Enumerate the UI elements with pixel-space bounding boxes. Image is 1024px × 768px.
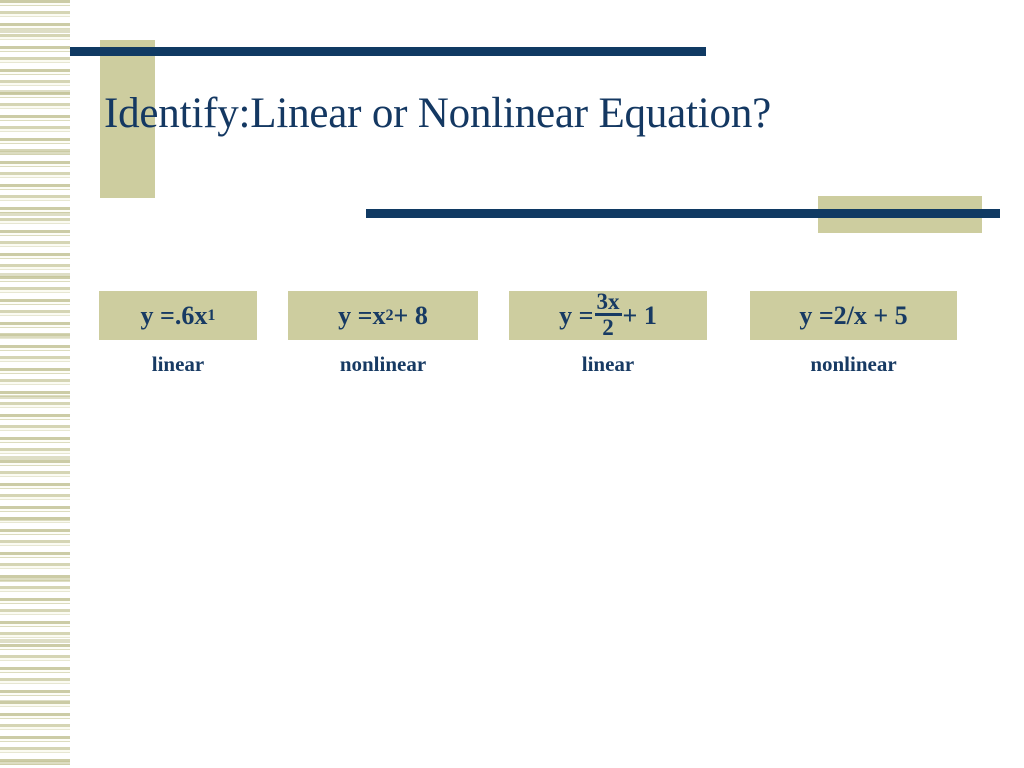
page-title: Identify:Linear or Nonlinear Equation? — [104, 92, 1020, 135]
equation-2-tail: + 8 — [394, 303, 428, 329]
equation-box-2[interactable]: y = x2 + 8 — [288, 291, 478, 340]
equation-3-lhs: y = — [559, 303, 593, 329]
navy-rule-bottom — [366, 209, 1000, 218]
equation-4-lhs: y = — [799, 303, 833, 329]
fraction-numerator: 3x — [595, 291, 622, 312]
equation-answer-3: linear — [509, 352, 707, 377]
equation-box-1[interactable]: y = .6x1 — [99, 291, 257, 340]
equation-answer-1: linear — [99, 352, 257, 377]
equation-answer-2: nonlinear — [288, 352, 478, 377]
equation-answer-4: nonlinear — [750, 352, 957, 377]
equation-2-lhs: y = — [338, 303, 372, 329]
fraction-denominator: 2 — [600, 317, 616, 338]
equation-4-rhs: 2/x + 5 — [834, 303, 908, 329]
equation-1-rhs: .6x — [175, 303, 208, 329]
striped-side-band — [0, 0, 70, 768]
equation-2-rhs: x — [372, 303, 385, 329]
equation-box-4[interactable]: y = 2/x + 5 — [750, 291, 957, 340]
navy-rule-top — [70, 47, 706, 56]
equation-3-tail: + 1 — [623, 303, 657, 329]
equation-1-lhs: y = — [141, 303, 175, 329]
slide-canvas: Identify:Linear or Nonlinear Equation? y… — [0, 0, 1024, 768]
equation-box-3[interactable]: y =3x2+ 1 — [509, 291, 707, 340]
fraction-3x-over-2: 3x2 — [595, 291, 622, 338]
